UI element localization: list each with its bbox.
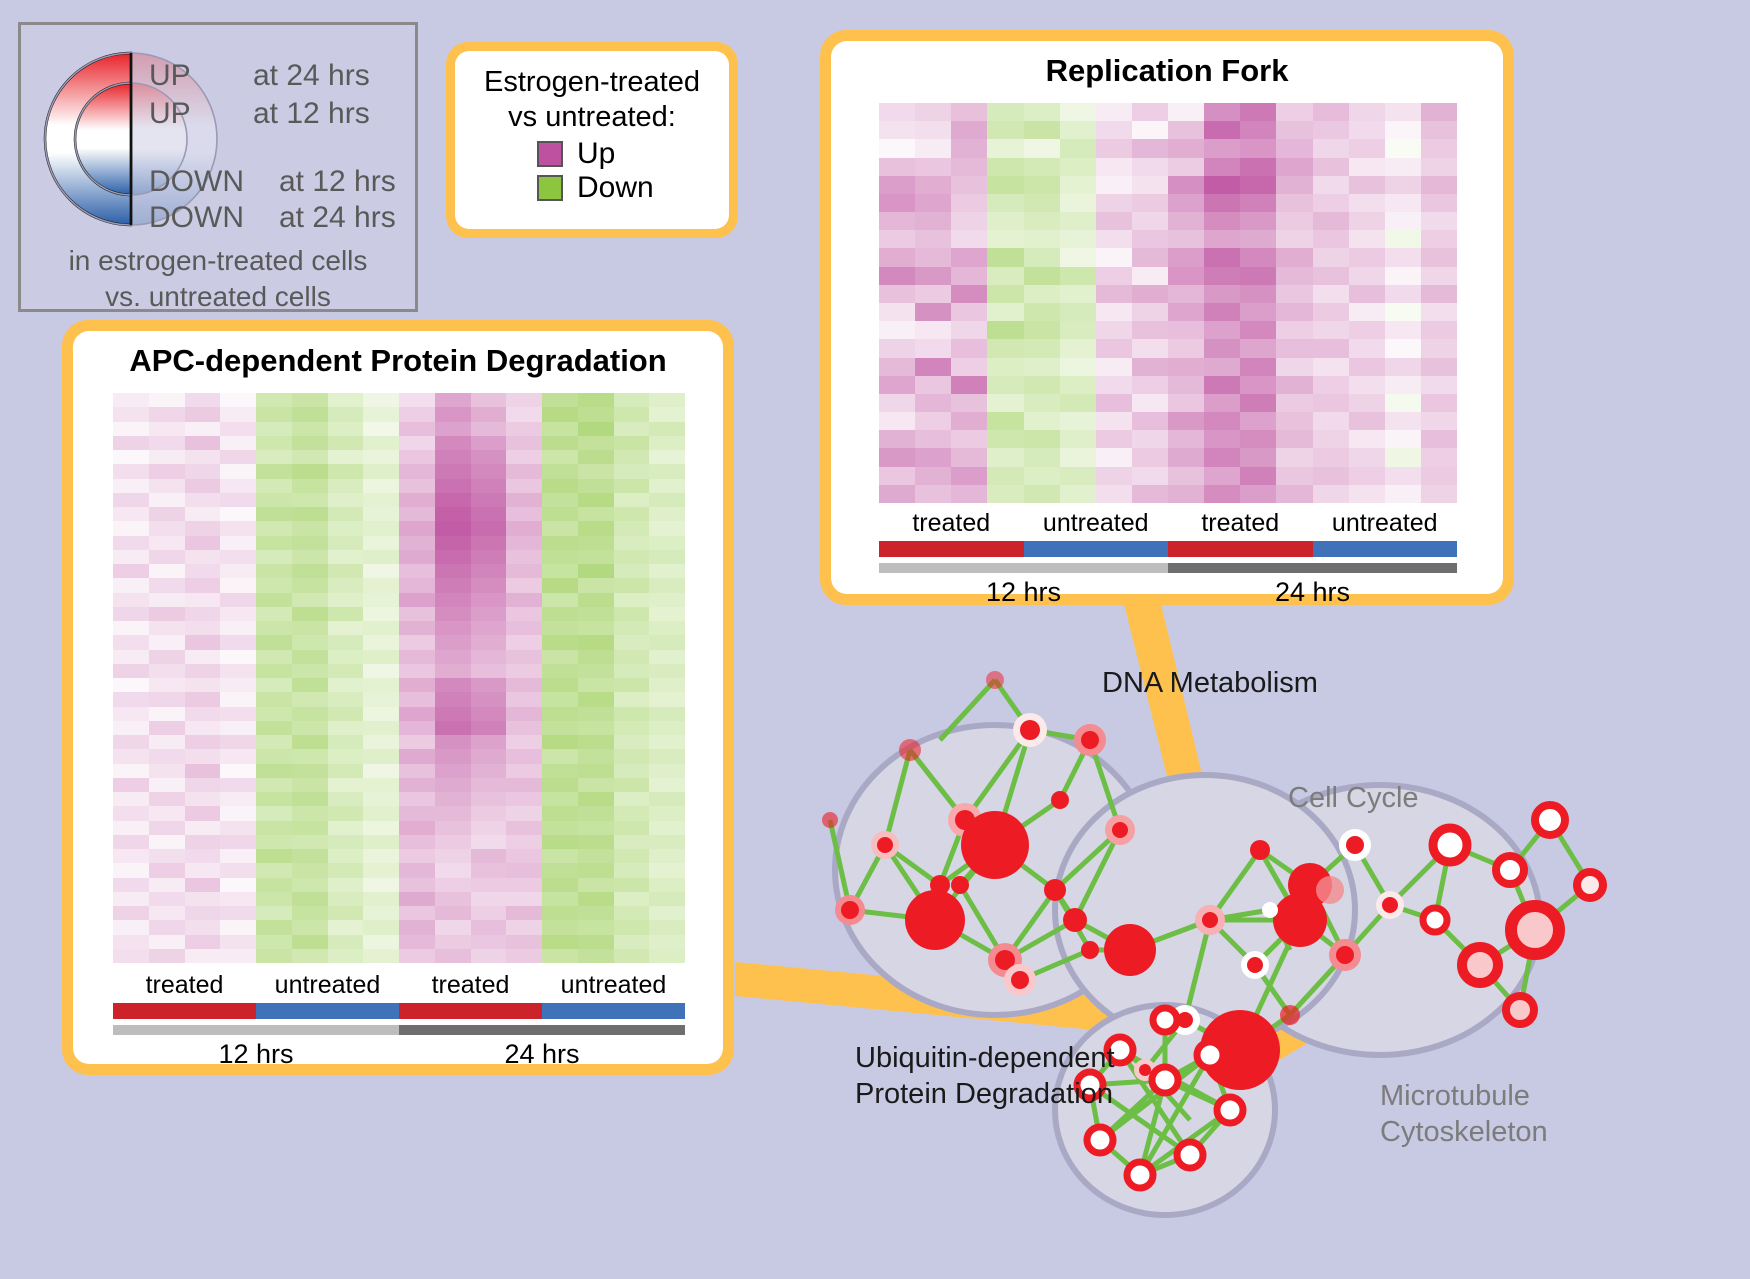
heatmap-cell — [1024, 230, 1060, 248]
heatmap-cell — [614, 564, 650, 578]
heatmap-cell — [113, 650, 149, 664]
heatmap-cell — [506, 692, 542, 706]
heatmap-cell — [578, 821, 614, 835]
heatmap-cell — [256, 464, 292, 478]
heatmap-cell — [506, 849, 542, 863]
heatmap-cell — [256, 906, 292, 920]
heatmap-cell — [363, 749, 399, 763]
heatmap-cell — [399, 692, 435, 706]
heatmap-cell — [1313, 158, 1349, 176]
heatmap-cell — [220, 564, 256, 578]
heatmap-cell — [149, 650, 185, 664]
heatmap-cell — [1096, 412, 1132, 430]
heatmap-cell — [471, 664, 507, 678]
heatmap-cell — [614, 892, 650, 906]
heatmap-cell — [185, 735, 221, 749]
time-labels-apc-degradation: 12 hrs24 hrs — [113, 1039, 685, 1070]
time-label: 24 hrs — [1168, 577, 1457, 608]
heatmap-cell — [879, 358, 915, 376]
heatmap-cell — [1385, 194, 1421, 212]
heatmap-cell — [292, 436, 328, 450]
heatmap-cell — [149, 821, 185, 835]
heatmap-cell — [292, 521, 328, 535]
heatmap-cell — [578, 849, 614, 863]
heatmap-cell — [1204, 321, 1240, 339]
cluster-label-microtubule-cytoskeleton: Microtubule Cytoskeleton — [1380, 1078, 1548, 1150]
treatment-bar-replication-fork — [879, 541, 1457, 557]
heatmap-cell — [1204, 103, 1240, 121]
heatmap-cell — [399, 664, 435, 678]
heatmap-cell — [649, 635, 685, 649]
estrogen-legend-panel: Estrogen-treated vs untreated: Up Down — [446, 42, 738, 238]
heatmap-cell — [1204, 448, 1240, 466]
heatmap-cell — [578, 835, 614, 849]
heatmap-cell — [649, 422, 685, 436]
heatmap-cell — [879, 121, 915, 139]
heatmap-cell — [649, 878, 685, 892]
heatmap-cell — [578, 564, 614, 578]
heatmap-cell — [220, 464, 256, 478]
heatmap-cell — [149, 607, 185, 621]
heatmap-cell — [256, 536, 292, 550]
heatmap-cell — [471, 863, 507, 877]
heatmap-cell — [292, 835, 328, 849]
heatmap-cell — [149, 536, 185, 550]
heatmap-cell — [399, 507, 435, 521]
heatmap-cell — [185, 707, 221, 721]
heatmap-cell — [879, 176, 915, 194]
heatmap-cell — [256, 450, 292, 464]
heatmap-cell — [328, 507, 364, 521]
heatmap-cell — [1313, 412, 1349, 430]
heatmap-cell — [649, 664, 685, 678]
heatmap-cell — [915, 358, 951, 376]
color-key-down-24-label: DOWN — [149, 201, 244, 235]
heatmap-cell — [149, 450, 185, 464]
heatmap-cell — [1349, 248, 1385, 266]
heatmap-cell — [149, 678, 185, 692]
heatmap-cell — [471, 835, 507, 849]
heatmap-cell — [614, 450, 650, 464]
heatmap-cell — [399, 493, 435, 507]
heatmap-cell — [987, 467, 1023, 485]
heatmap-cell — [149, 521, 185, 535]
heatmap-cell — [328, 564, 364, 578]
heatmap-cell — [471, 493, 507, 507]
heatmap-cell — [1240, 394, 1276, 412]
heatmap-cell — [149, 949, 185, 963]
heatmap-cell — [292, 692, 328, 706]
heatmap-cell — [1132, 194, 1168, 212]
heatmap-cell — [1385, 139, 1421, 157]
heatmap-cell — [220, 721, 256, 735]
heatmap-cell — [578, 664, 614, 678]
heatmap-cell — [1096, 358, 1132, 376]
heatmap-cell — [614, 521, 650, 535]
heatmap-cell — [149, 436, 185, 450]
heatmap-cell — [649, 393, 685, 407]
heatmap-cell — [578, 550, 614, 564]
heatmap-cell — [1276, 248, 1312, 266]
heatmap-cell — [149, 920, 185, 934]
heatmap-cell — [1060, 303, 1096, 321]
heatmap-cell — [578, 892, 614, 906]
heatmap-cell — [649, 578, 685, 592]
heatmap-cell — [363, 393, 399, 407]
heatmap-cell — [363, 806, 399, 820]
heatmap-cell — [363, 507, 399, 521]
heatmap-cell — [1024, 321, 1060, 339]
heatmap-cell — [542, 863, 578, 877]
heatmap-cell — [649, 507, 685, 521]
heatmap-cell — [1168, 321, 1204, 339]
heatmap-cell — [506, 650, 542, 664]
heatmap-cell — [1060, 376, 1096, 394]
heatmap-cell — [471, 593, 507, 607]
heatmap-cell — [220, 407, 256, 421]
heatmap-cell — [1276, 285, 1312, 303]
heatmap-cell — [649, 935, 685, 949]
heatmap-cell — [1168, 176, 1204, 194]
heatmap-cell — [879, 485, 915, 503]
heatmap-cell — [113, 878, 149, 892]
heatmap-cell — [1240, 230, 1276, 248]
heatmap-cell — [987, 230, 1023, 248]
heatmap-cell — [292, 635, 328, 649]
group-label: untreated — [1313, 509, 1458, 538]
heatmap-cell — [649, 749, 685, 763]
heatmap-cell — [185, 892, 221, 906]
heatmap-cell — [363, 621, 399, 635]
heatmap-cell — [1276, 121, 1312, 139]
heatmap-cell — [292, 764, 328, 778]
heatmap-cell — [220, 806, 256, 820]
heatmap-cell — [328, 664, 364, 678]
heatmap-cell — [363, 906, 399, 920]
heatmap-cell — [506, 536, 542, 550]
heatmap-cell — [649, 735, 685, 749]
group-label: treated — [399, 971, 542, 1000]
heatmap-cell — [363, 821, 399, 835]
heatmap-cell — [435, 650, 471, 664]
heatmap-cell — [614, 835, 650, 849]
heatmap-cell — [578, 578, 614, 592]
heatmap-cell — [113, 692, 149, 706]
heatmap-cell — [649, 536, 685, 550]
heatmap-cell — [879, 339, 915, 357]
heatmap-cell — [328, 422, 364, 436]
heatmap-cell — [1349, 339, 1385, 357]
heatmap-cell — [113, 835, 149, 849]
heatmap-cell — [1421, 285, 1457, 303]
heatmap-cell — [506, 450, 542, 464]
heatmap-cell — [951, 139, 987, 157]
heatmap-cell — [256, 778, 292, 792]
color-key-footer: in estrogen-treated cells vs. untreated … — [21, 243, 415, 315]
heatmap-cell — [292, 949, 328, 963]
heatmap-cell — [185, 393, 221, 407]
heatmap-cell — [220, 920, 256, 934]
heatmap-cell — [1421, 158, 1457, 176]
heatmap-cell — [1385, 176, 1421, 194]
heatmap-cell — [951, 103, 987, 121]
heatmap-cell — [149, 692, 185, 706]
heatmap-cell — [542, 393, 578, 407]
heatmap-cell — [987, 430, 1023, 448]
heatmap-cell — [149, 892, 185, 906]
heatmap-cell — [649, 407, 685, 421]
heatmap-cell — [1060, 448, 1096, 466]
heatmap-cell — [1349, 121, 1385, 139]
heatmap-cell — [879, 394, 915, 412]
heatmap-cell — [399, 935, 435, 949]
heatmap-cell — [1313, 358, 1349, 376]
heatmap-cell — [220, 607, 256, 621]
heatmap-cell — [578, 749, 614, 763]
heatmap-cell — [292, 493, 328, 507]
heatmap-cell — [1024, 430, 1060, 448]
heatmap-cell — [256, 521, 292, 535]
heatmap-cell — [256, 707, 292, 721]
heatmap-cell — [1060, 230, 1096, 248]
heatmap-cell — [363, 849, 399, 863]
heatmap-cell — [149, 407, 185, 421]
heatmap-cell — [951, 467, 987, 485]
heatmap-cell — [149, 578, 185, 592]
heatmap-cell — [1204, 285, 1240, 303]
heatmap-cell — [1060, 158, 1096, 176]
heatmap-cell — [915, 430, 951, 448]
heatmap-cell — [987, 412, 1023, 430]
heatmap-cell — [435, 707, 471, 721]
heatmap-cell — [578, 692, 614, 706]
heatmap-cell — [1276, 376, 1312, 394]
heatmap-cell — [1385, 430, 1421, 448]
heatmap-cell — [649, 493, 685, 507]
heatmap-cell — [256, 578, 292, 592]
heatmap-cell — [1276, 103, 1312, 121]
heatmap-cell — [471, 521, 507, 535]
heatmap-cell — [328, 536, 364, 550]
heatmap-cell — [399, 792, 435, 806]
heatmap-cell — [399, 450, 435, 464]
heatmap-cell — [1349, 139, 1385, 157]
heatmap-cell — [256, 422, 292, 436]
heatmap-cell — [220, 906, 256, 920]
heatmap-cell — [1276, 267, 1312, 285]
time-labels-replication-fork: 12 hrs24 hrs — [879, 577, 1457, 608]
heatmap-cell — [879, 321, 915, 339]
heatmap-cell — [649, 707, 685, 721]
heatmap-cell — [113, 479, 149, 493]
panel-title-replication-fork: Replication Fork — [831, 41, 1503, 89]
heatmap-cell — [879, 376, 915, 394]
heatmap-cell — [1240, 176, 1276, 194]
color-key-up-12-label: UP — [149, 97, 191, 131]
heatmap-cell — [542, 521, 578, 535]
heatmap-cell — [542, 664, 578, 678]
heatmap-cell — [435, 607, 471, 621]
heatmap-cell — [1132, 121, 1168, 139]
heatmap-cell — [1024, 339, 1060, 357]
heatmap-cell — [1276, 321, 1312, 339]
heatmap-cell — [435, 878, 471, 892]
heatmap-cell — [328, 436, 364, 450]
heatmap-cell — [1168, 267, 1204, 285]
heatmap-cell — [1349, 285, 1385, 303]
heatmap-cell — [1132, 394, 1168, 412]
heatmap-cell — [1096, 303, 1132, 321]
heatmap-cell — [149, 878, 185, 892]
heatmap-cell — [578, 607, 614, 621]
heatmap-cell — [614, 536, 650, 550]
heatmap-cell — [1421, 485, 1457, 503]
heatmap-cell — [471, 892, 507, 906]
heatmap-cell — [471, 735, 507, 749]
heatmap-cell — [399, 806, 435, 820]
heatmap-cell — [1024, 412, 1060, 430]
heatmap-cell — [578, 536, 614, 550]
heatmap-cell — [1421, 467, 1457, 485]
heatmap-cell — [1024, 176, 1060, 194]
heatmap-cell — [149, 806, 185, 820]
heatmap-cell — [1276, 485, 1312, 503]
heatmap-cell — [185, 479, 221, 493]
heatmap-cell — [1168, 230, 1204, 248]
heatmap-cell — [185, 593, 221, 607]
heatmap-cell — [435, 892, 471, 906]
time-bar-segment — [1168, 563, 1457, 573]
heatmap-cell — [879, 467, 915, 485]
heatmap-cell — [328, 949, 364, 963]
heatmap-cell — [987, 212, 1023, 230]
heatmap-cell — [256, 635, 292, 649]
heatmap-cell — [256, 607, 292, 621]
heatmap-cell — [542, 436, 578, 450]
heatmap-cell — [506, 878, 542, 892]
heatmap-cell — [506, 749, 542, 763]
heatmap-cell — [1204, 158, 1240, 176]
time-label: 24 hrs — [399, 1039, 685, 1070]
time-label: 12 hrs — [113, 1039, 399, 1070]
heatmap-cell — [1385, 412, 1421, 430]
heatmap-cell — [292, 621, 328, 635]
heatmap-cell — [506, 422, 542, 436]
heatmap-cell — [542, 479, 578, 493]
heatmap-cell — [542, 621, 578, 635]
heatmap-cell — [542, 678, 578, 692]
heatmap-cell — [987, 121, 1023, 139]
heatmap-cell — [915, 121, 951, 139]
heatmap-cell — [1421, 230, 1457, 248]
heatmap-cell — [987, 103, 1023, 121]
heatmap-cell — [149, 721, 185, 735]
heatmap-cell — [435, 778, 471, 792]
heatmap-cell — [1313, 394, 1349, 412]
heatmap-cell — [256, 479, 292, 493]
heatmap-cell — [1385, 285, 1421, 303]
heatmap-cell — [649, 920, 685, 934]
heatmap-cell — [113, 778, 149, 792]
heatmap-cell — [471, 650, 507, 664]
heatmap-cell — [1240, 321, 1276, 339]
heatmap-cell — [471, 949, 507, 963]
heatmap-cell — [1132, 103, 1168, 121]
heatmap-cell — [578, 650, 614, 664]
heatmap-cell — [506, 578, 542, 592]
heatmap-cell — [1385, 485, 1421, 503]
heatmap-cell — [578, 407, 614, 421]
heatmap-cell — [256, 920, 292, 934]
heatmap-cell — [1313, 376, 1349, 394]
heatmap-cell — [578, 635, 614, 649]
heatmap-cell — [1385, 103, 1421, 121]
heatmap-cell — [435, 721, 471, 735]
group-label: untreated — [1024, 509, 1169, 538]
heatmap-cell — [220, 878, 256, 892]
heatmap-cell — [292, 422, 328, 436]
heatmap-cell — [614, 749, 650, 763]
heatmap-cell — [578, 621, 614, 635]
heatmap-cell — [185, 821, 221, 835]
heatmap-cell — [220, 949, 256, 963]
heatmap-cell — [1168, 412, 1204, 430]
heatmap-cell — [363, 650, 399, 664]
heatmap-cell — [542, 578, 578, 592]
heatmap-cell — [542, 692, 578, 706]
heatmap-cell — [185, 863, 221, 877]
heatmap-cell — [614, 393, 650, 407]
heatmap-cell — [1024, 394, 1060, 412]
heatmap-cell — [1385, 467, 1421, 485]
heatmap-cell — [879, 212, 915, 230]
heatmap-cell — [113, 607, 149, 621]
heatmap-cell — [149, 393, 185, 407]
heatmap-cell — [1276, 358, 1312, 376]
heatmap-cell — [1421, 303, 1457, 321]
heatmap-cell — [1240, 158, 1276, 176]
heatmap-cell — [951, 194, 987, 212]
heatmap-cell — [185, 507, 221, 521]
heatmap-cell — [292, 821, 328, 835]
heatmap-cell — [185, 407, 221, 421]
heatmap-cell — [614, 920, 650, 934]
heatmap-cell — [328, 493, 364, 507]
heatmap-cell — [1024, 103, 1060, 121]
heatmap-cell — [435, 464, 471, 478]
heatmap-cell — [987, 158, 1023, 176]
heatmap-cell — [1168, 285, 1204, 303]
heatmap-cell — [328, 550, 364, 564]
heatmap-cell — [951, 121, 987, 139]
color-key-up-24-label: UP — [149, 59, 191, 93]
heatmap-cell — [220, 450, 256, 464]
heatmap-cell — [185, 578, 221, 592]
heatmap-cell — [614, 764, 650, 778]
heatmap-cell — [292, 664, 328, 678]
heatmap-cell — [471, 749, 507, 763]
heatmap-cell — [1060, 467, 1096, 485]
heatmap-cell — [1132, 376, 1168, 394]
heatmap-cell — [185, 664, 221, 678]
heatmap-cell — [542, 835, 578, 849]
heatmap-cell — [506, 564, 542, 578]
heatmap-cell — [1204, 248, 1240, 266]
heatmap-cell — [399, 479, 435, 493]
heatmap-cell — [1024, 376, 1060, 394]
heatmap-cell — [363, 721, 399, 735]
heatmap-cell — [328, 621, 364, 635]
